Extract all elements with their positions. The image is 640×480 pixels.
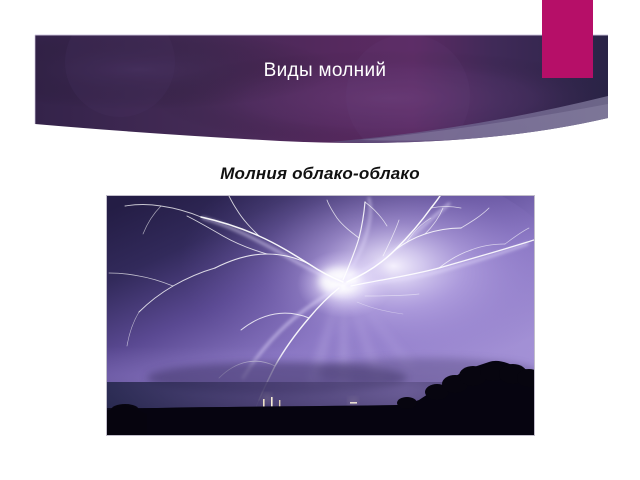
slide-title: Виды молний bbox=[45, 58, 605, 84]
lightning-photograph bbox=[107, 196, 534, 435]
presentation-slide: Виды молний Молния облако-облако bbox=[0, 0, 640, 480]
slide-subtitle: Молния облако-облако bbox=[0, 163, 640, 185]
